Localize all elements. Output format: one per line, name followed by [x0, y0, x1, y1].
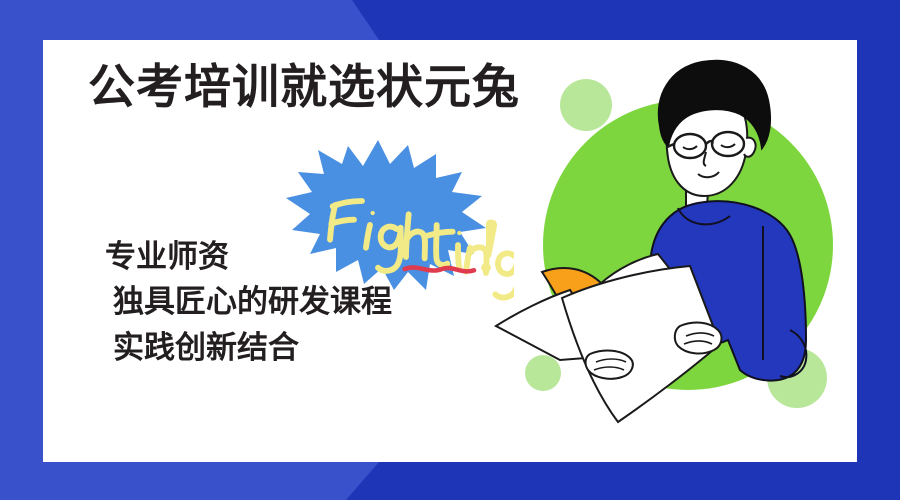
- hand-left: [586, 351, 633, 379]
- hand-right: [675, 323, 722, 354]
- white-content-card: 公考培训就选状元兔 专业师资 独具匠心的研发课程 实践创新结合: [43, 40, 857, 462]
- pale-green-dot-top-left: [560, 79, 612, 131]
- banner-root: 公考培训就选状元兔 专业师资 独具匠心的研发课程 实践创新结合: [0, 0, 900, 500]
- page-title: 公考培训就选状元兔: [88, 60, 520, 114]
- fighting-badge: [286, 140, 486, 290]
- illustration-svg: [490, 40, 857, 462]
- feature-item-3: 实践创新结合: [113, 325, 392, 370]
- illustration-man-reading: [490, 40, 857, 462]
- pale-green-dot-bottom-left: [525, 355, 561, 391]
- starburst-icon: [286, 140, 486, 290]
